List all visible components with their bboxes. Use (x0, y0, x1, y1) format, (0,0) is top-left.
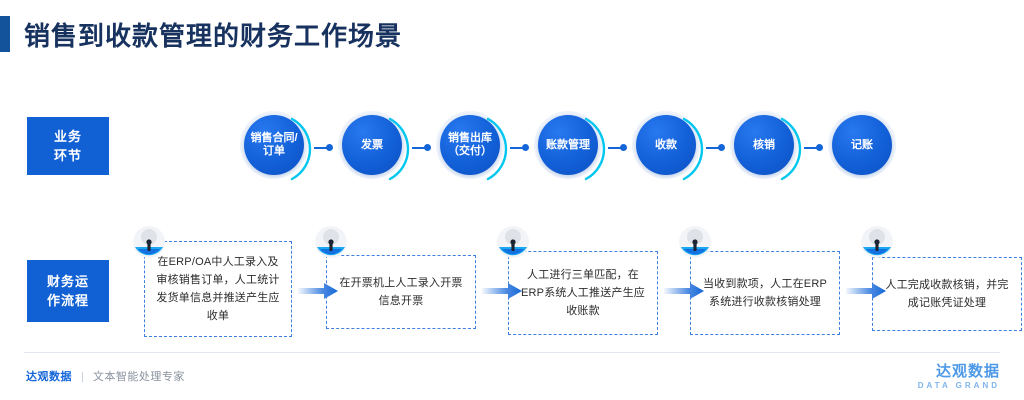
finance-flow-row: 在ERP/OA中人工录入及审核销售订单，人工统计发货单信息并推送产生应收单在开票… (130, 225, 1024, 345)
page-title-text: 销售到收款管理的财务工作场景 (24, 16, 402, 53)
process-node-5[interactable]: 收款 (630, 104, 702, 192)
process-circle-icon: 记账 (832, 115, 892, 175)
process-node-4[interactable]: 账款管理 (532, 104, 604, 192)
connector-dot (424, 144, 431, 151)
connector-dot (326, 144, 333, 151)
process-node-label: 销售合同/订单 (248, 132, 300, 158)
process-connector (412, 144, 434, 152)
person-avatar-icon (130, 225, 168, 263)
process-connector (314, 144, 336, 152)
process-node-label: 账款管理 (542, 139, 594, 152)
footer-divider-line (24, 352, 1000, 353)
footer-left: 达观数据 | 文本智能处理专家 (26, 368, 185, 384)
process-circle-icon: 销售合同/订单 (244, 115, 304, 175)
connector-dot (718, 144, 725, 151)
process-node-label: 记账 (836, 139, 888, 152)
connector-dot (620, 144, 627, 151)
process-circle-icon: 收款 (636, 115, 696, 175)
process-node-3[interactable]: 销售出库（交付） (434, 104, 506, 192)
process-node-label: 发票 (346, 139, 398, 152)
connector-dot (522, 144, 529, 151)
row-label-finance-line2: 作流程 (47, 291, 89, 310)
row-label-business: 业务 环节 (27, 117, 109, 175)
process-circle-icon: 账款管理 (538, 115, 598, 175)
title-accent-bar (0, 16, 10, 52)
process-node-label: 销售出库（交付） (444, 132, 496, 158)
process-node-1[interactable]: 销售合同/订单 (238, 104, 310, 192)
finance-step-text: 在开票机上人工录入开票信息开票 (335, 274, 467, 310)
finance-step-text: 人工进行三单匹配，在ERP系统人工推送产生应收账款 (517, 266, 649, 320)
process-connector (706, 144, 728, 152)
row-label-business-line1: 业务 (54, 127, 82, 146)
process-node-label: 核销 (738, 139, 790, 152)
process-circle-icon: 核销 (734, 115, 794, 175)
person-avatar-icon (312, 225, 350, 263)
row-label-business-line2: 环节 (54, 146, 82, 165)
row-label-finance-line1: 财务运 (47, 272, 89, 291)
company-logo: 达观数据 DATA GRAND (918, 364, 1000, 391)
footer-divider: | (81, 371, 84, 383)
person-avatar-icon (676, 225, 714, 263)
company-logo-en: DATA GRAND (918, 380, 1000, 391)
footer-tagline: 文本智能处理专家 (93, 368, 185, 384)
finance-step-box: 人工完成收款核销，并完成记账凭证处理 (872, 257, 1022, 331)
process-connector (804, 144, 826, 152)
process-connector (510, 144, 532, 152)
page-title: 销售到收款管理的财务工作场景 (0, 14, 402, 54)
person-avatar-icon (494, 225, 532, 263)
business-process-row: 销售合同/订单发票销售出库（交付）账款管理收款核销记账 (238, 104, 1018, 194)
finance-step-box: 在开票机上人工录入开票信息开票 (326, 255, 476, 329)
footer-brand: 达观数据 (26, 368, 72, 384)
process-circle-icon: 发票 (342, 115, 402, 175)
row-label-finance: 财务运 作流程 (27, 260, 109, 322)
process-node-label: 收款 (640, 139, 692, 152)
process-node-7[interactable]: 记账 (826, 104, 898, 192)
process-node-2[interactable]: 发票 (336, 104, 408, 192)
process-circle-icon: 销售出库（交付） (440, 115, 500, 175)
process-connector (608, 144, 630, 152)
finance-step-text: 在ERP/OA中人工录入及审核销售订单，人工统计发货单信息并推送产生应收单 (153, 253, 283, 325)
process-node-6[interactable]: 核销 (728, 104, 800, 192)
company-logo-cn: 达观数据 (918, 364, 1000, 380)
finance-step-box: 当收到款项，人工在ERP系统进行收款核销处理 (690, 251, 840, 335)
person-avatar-icon (858, 225, 896, 263)
finance-step-text: 当收到款项，人工在ERP系统进行收款核销处理 (699, 275, 831, 311)
finance-step-box: 人工进行三单匹配，在ERP系统人工推送产生应收账款 (508, 251, 658, 335)
connector-dot (816, 144, 823, 151)
finance-step-text: 人工完成收款核销，并完成记账凭证处理 (881, 276, 1013, 312)
